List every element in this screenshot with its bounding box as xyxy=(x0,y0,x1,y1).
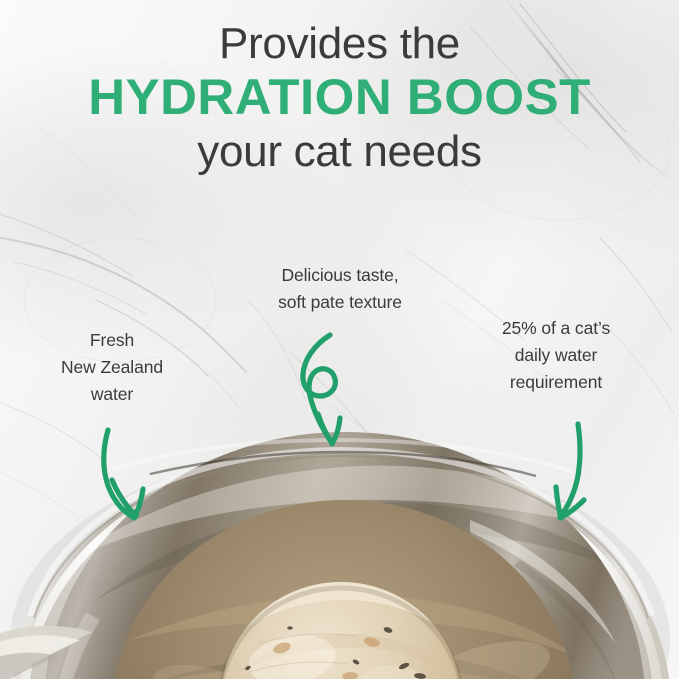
callout-left-line-2: New Zealand xyxy=(36,354,188,381)
callout-right-line-3: requirement xyxy=(464,369,648,396)
callout-fresh-new-zealand-water: Fresh New Zealand water xyxy=(36,327,188,408)
callout-right-line-1: 25% of a cat’s xyxy=(464,315,648,342)
callout-middle-line-1: Delicious taste, xyxy=(240,262,440,289)
callout-daily-water-requirement: 25% of a cat’s daily water requirement xyxy=(464,315,648,396)
callout-delicious-taste: Delicious taste, soft pate texture xyxy=(240,262,440,316)
callout-left-line-1: Fresh xyxy=(36,327,188,354)
callout-right-line-2: daily water xyxy=(464,342,648,369)
marketing-graphic: Provides the HYDRATION BOOST your cat ne… xyxy=(0,0,679,679)
callout-left-line-3: water xyxy=(36,381,188,408)
callout-middle-line-2: soft pate texture xyxy=(240,289,440,316)
